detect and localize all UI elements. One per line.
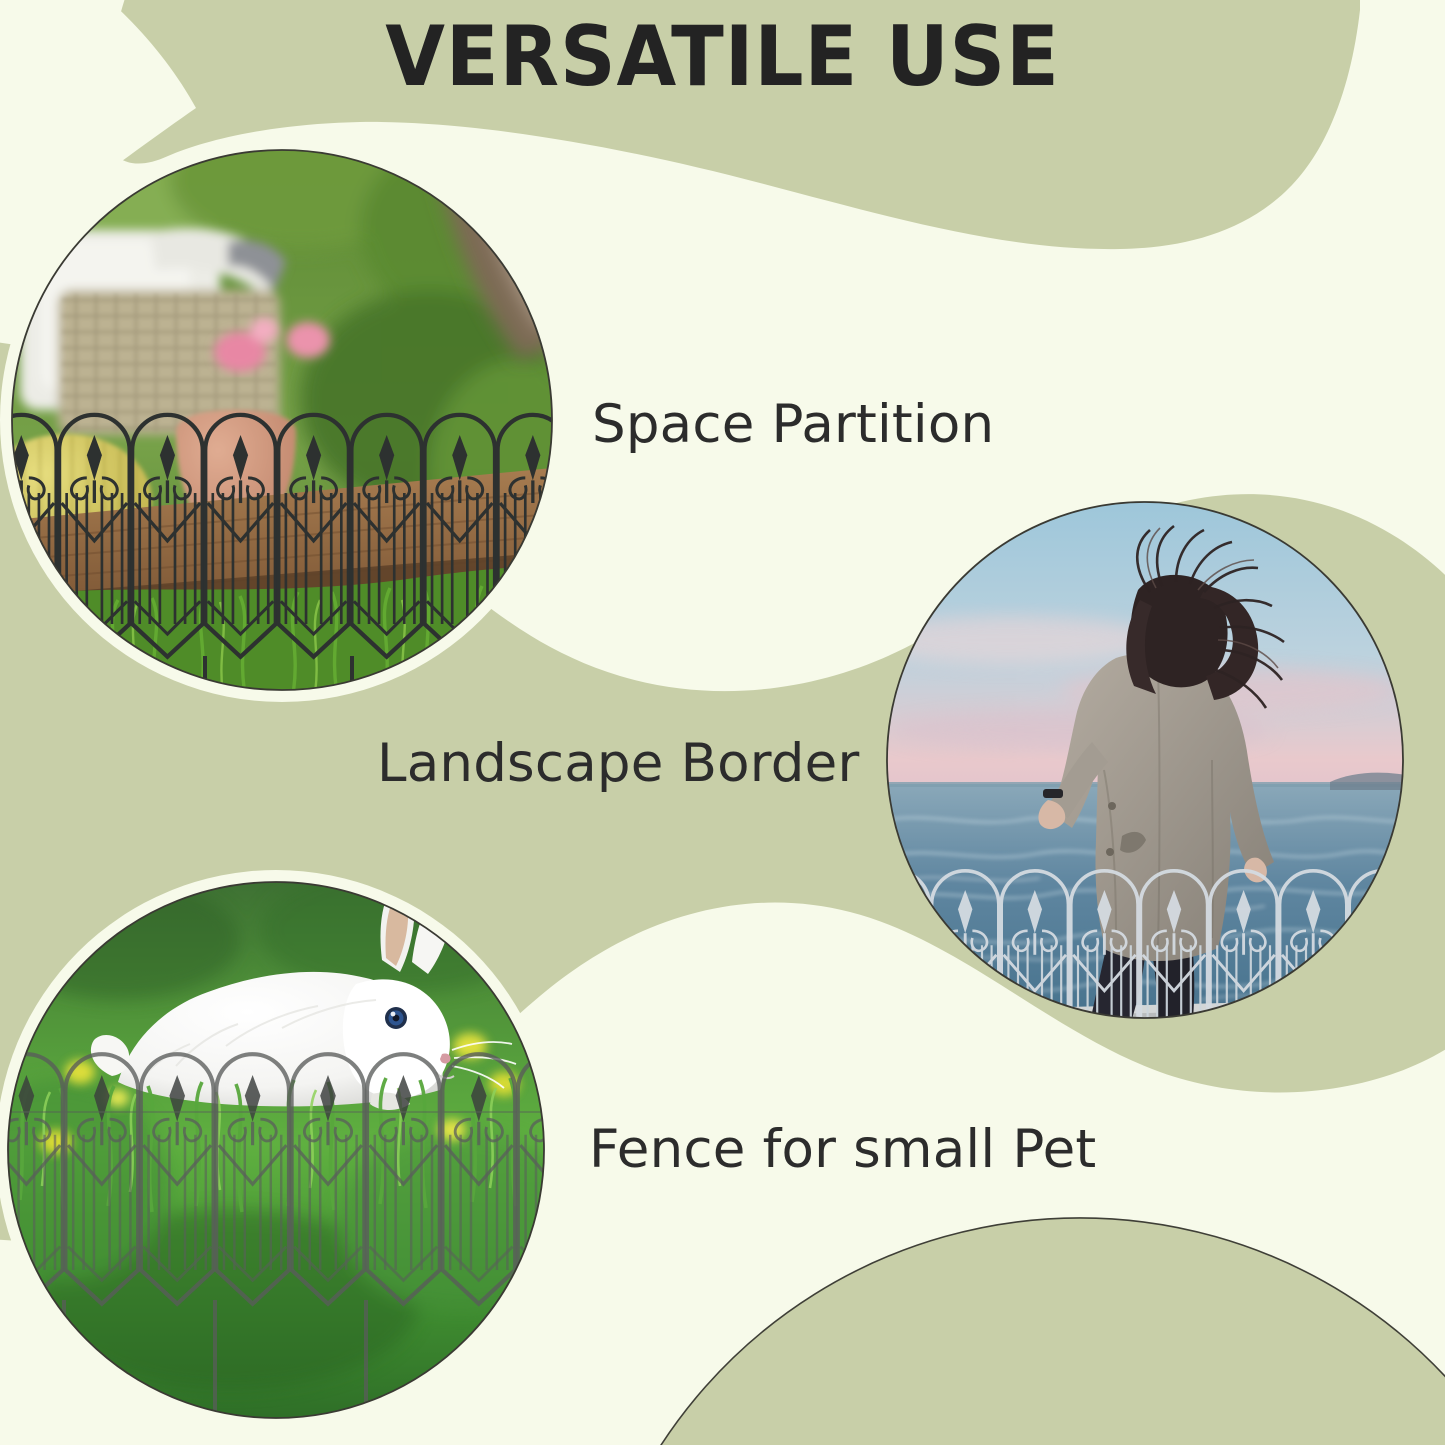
photo-circles: [0, 0, 1445, 1445]
photo-circle-fence-for-small-pet: [0, 866, 666, 1440]
photo-circle-space-partition: [0, 110, 641, 706]
feature-label-space-partition: Space Partition: [592, 394, 994, 455]
feature-label-fence-for-small-pet: Fence for small Pet: [589, 1119, 1096, 1180]
feature-label-landscape-border: Landscape Border: [377, 733, 859, 794]
photo-circle-landscape-border: [860, 495, 1445, 1110]
page-title: VERSATILE USE: [51, 8, 1395, 105]
infographic-canvas: VERSATILE USE Space Partition Landscape …: [0, 0, 1445, 1445]
